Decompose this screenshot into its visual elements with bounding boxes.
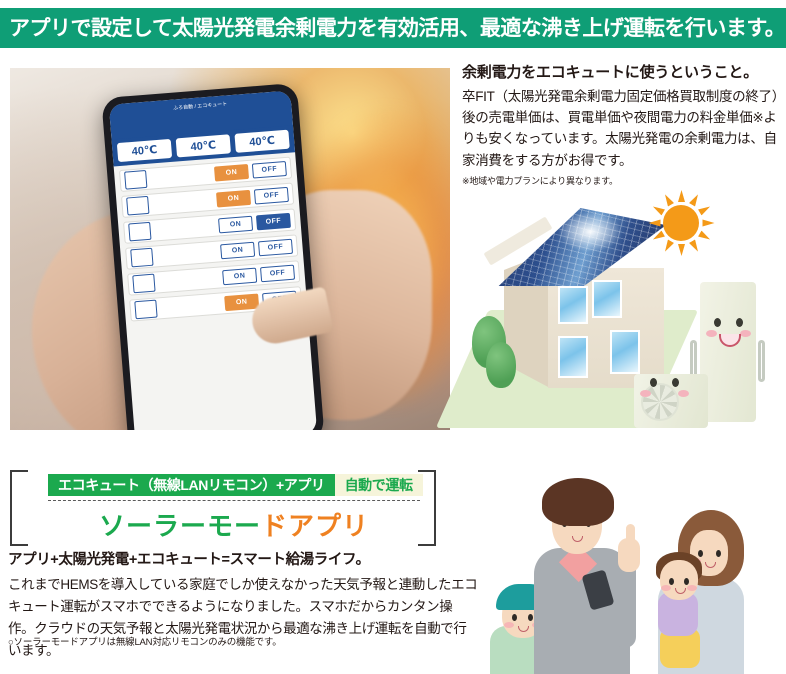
baby-head <box>660 560 698 600</box>
baby-cheek <box>687 585 697 591</box>
bath-icon <box>128 222 151 242</box>
boy-cheek <box>504 622 514 628</box>
boy-mouth <box>518 626 529 632</box>
tree-icon <box>486 342 516 388</box>
badge-auto-operation: 自動で運転 <box>335 474 423 496</box>
right-text-panel: 余剰電力をエコキュートに使うということ。 卒FIT（太陽光発電余剰電力固定価格買… <box>462 62 782 189</box>
badge-product-label: エコキュート（無線LANリモコン）+アプリ <box>48 474 335 496</box>
heat-pump-character <box>634 374 708 428</box>
father-pointing-finger <box>626 524 635 550</box>
off-toggle: OFF <box>260 264 295 282</box>
tank-arm <box>758 340 765 382</box>
title-segment-orange: ドアプリ <box>261 511 369 541</box>
heat-pump-fan <box>641 383 679 421</box>
right-panel-note: ※地域や電力プランにより異なります。 <box>462 175 782 189</box>
family-illustration <box>482 468 786 674</box>
off-toggle: OFF <box>252 160 287 178</box>
bottom-lead-text: アプリ+太陽光発電+エコキュート=スマート給湯ライフ。 <box>8 548 370 569</box>
mother-eye <box>698 550 703 557</box>
pump-eye <box>672 378 679 387</box>
solar-mode-app-title: ソーラーモードアプリ <box>48 506 420 543</box>
boy-eye <box>512 614 517 621</box>
bath-icon <box>126 196 149 216</box>
boy-eye <box>528 614 533 621</box>
temp-chip: 40℃ <box>117 139 172 162</box>
sun-icon <box>648 190 714 256</box>
bath-icon <box>124 170 147 190</box>
baby-eye <box>684 578 689 585</box>
title-segment-green: ソーラーモー <box>99 511 261 541</box>
on-toggle: ON <box>214 163 249 181</box>
on-toggle: ON <box>222 267 257 285</box>
tank-eye <box>714 318 721 327</box>
tank-cheek <box>740 330 751 337</box>
baby-eye <box>669 578 674 585</box>
bath-icon <box>130 248 153 268</box>
house-window <box>610 330 640 374</box>
roof-sun-reflection <box>558 212 622 252</box>
right-panel-heading: 余剰電力をエコキュートに使うということ。 <box>462 62 782 84</box>
house-window <box>558 286 588 324</box>
on-toggle: ON <box>218 215 253 233</box>
on-toggle: ON <box>224 293 259 311</box>
mother-eye <box>716 550 721 557</box>
phone-device: ふろ自動 / エコキュート 40℃ 40℃ 40℃ ON OFF ON OFF <box>101 83 324 430</box>
on-toggle: ON <box>220 241 255 259</box>
bottom-body-text: これまでHEMSを導入している家庭でしか使えなかった天気予報と連動したエコキュー… <box>8 574 478 661</box>
tank-cheek <box>706 330 717 337</box>
temp-chip: 40℃ <box>234 130 289 153</box>
right-panel-body: 卒FIT（太陽光発電余剰電力固定価格買取制度の終了）後の売電単価は、買電単価や夜… <box>462 86 782 171</box>
pump-cheek <box>640 390 651 397</box>
off-toggle: OFF <box>256 212 291 230</box>
pump-cheek <box>678 390 689 397</box>
bracket-left <box>10 470 28 546</box>
tank-eye <box>736 318 743 327</box>
hot-water-tank-character <box>700 282 756 422</box>
header-banner-text: アプリで設定して太陽光発電余剰電力を有効活用、最適な沸き上げ運転を行います。 <box>9 18 785 39</box>
house-solar-illustration <box>462 190 784 440</box>
on-toggle: ON <box>216 189 251 207</box>
sun-core <box>663 205 699 241</box>
bottom-note-text: ○ソーラーモードアプリは無線LAN対応リモコンのみの機能です。 <box>8 634 282 648</box>
header-banner: アプリで設定して太陽光発電余剰電力を有効活用、最適な沸き上げ運転を行います。 <box>0 8 786 48</box>
smartphone-app-photo: ふろ自動 / エコキュート 40℃ 40℃ 40℃ ON OFF ON OFF <box>10 68 450 430</box>
house-window <box>558 336 588 378</box>
mother-mouth <box>705 562 716 568</box>
divider-dashed <box>48 500 420 501</box>
father-mouth <box>572 536 583 542</box>
baby-mouth <box>675 588 686 594</box>
phone-screen: ふろ自動 / エコキュート 40℃ 40℃ 40℃ ON OFF ON OFF <box>109 90 317 430</box>
feature-badge-row: エコキュート（無線LANリモコン）+アプリ 自動で運転 <box>48 474 423 496</box>
off-toggle: OFF <box>254 186 289 204</box>
father-hair <box>542 478 614 526</box>
baby-cheek <box>661 585 671 591</box>
tank-mouth <box>719 334 741 347</box>
house-window <box>592 280 622 318</box>
bath-icon <box>134 300 157 320</box>
bath-icon <box>132 274 155 294</box>
off-toggle: OFF <box>258 238 293 256</box>
pump-eye <box>650 378 657 387</box>
temp-chip: 40℃ <box>176 134 231 157</box>
